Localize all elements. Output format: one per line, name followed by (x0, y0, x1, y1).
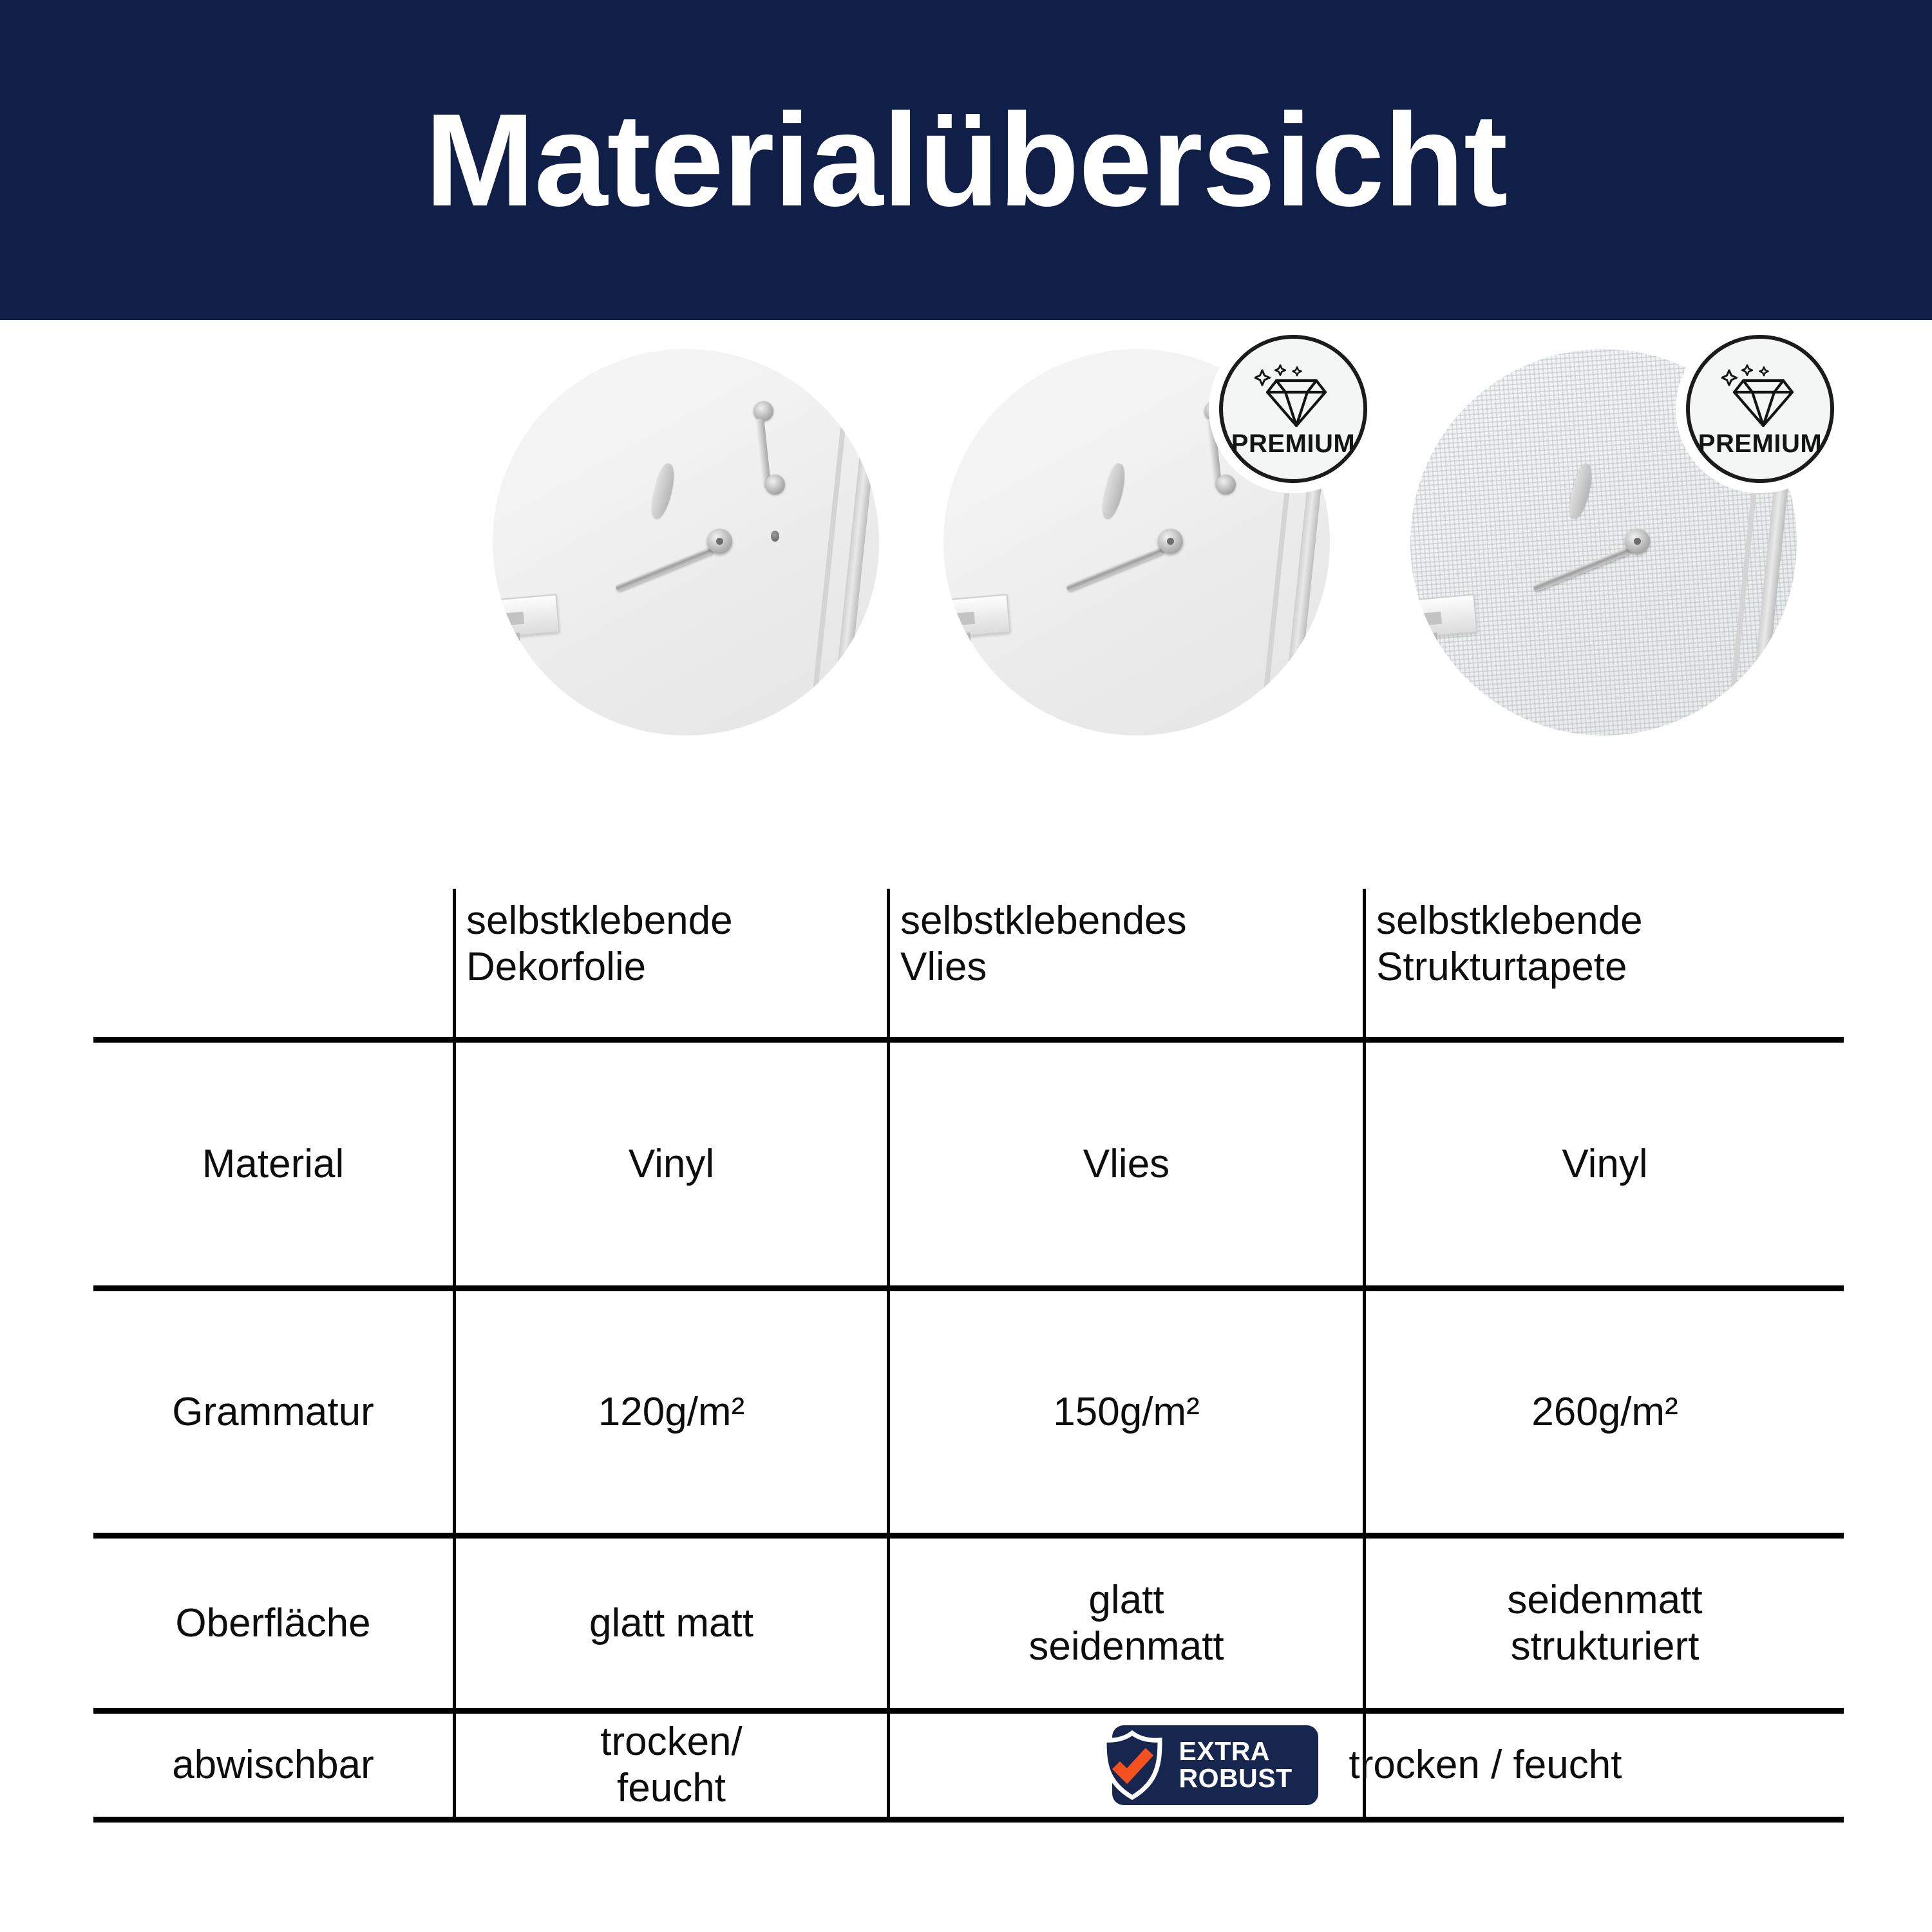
premium-badge-strukturtapete: PREMIUM (1686, 335, 1834, 483)
table-row-divider-3 (93, 1533, 1844, 1539)
cell-grammatur-vlies: 150g/m² (890, 1291, 1363, 1533)
diamond-icon (1721, 361, 1799, 430)
product-thumb-strukturtapete[interactable]: PREMIUM (1410, 349, 1797, 735)
cell-abwischbar-dekorfolie: trocken/ feucht (456, 1714, 887, 1817)
header-line-1: selbstklebendes (900, 898, 1187, 944)
row-label-oberflaeche: Oberfläche (93, 1539, 453, 1708)
header-line-1: selbstklebende (1376, 898, 1643, 944)
product-circle-image-1 (493, 349, 879, 735)
robust-row-content: EXTRA ROBUST trocken / feucht (900, 1725, 1833, 1805)
header-line-2: Vlies (900, 944, 1187, 990)
premium-badge-label: PREMIUM (1231, 431, 1355, 457)
extra-robust-label: EXTRA ROBUST (1179, 1738, 1293, 1792)
value-line-2: feucht (600, 1765, 743, 1812)
cell-material-dekorfolie: Vinyl (456, 1043, 887, 1285)
cell-abwischbar-merged: EXTRA ROBUST trocken / feucht (890, 1714, 1844, 1817)
table-row-divider-5 (93, 1817, 1844, 1823)
row-label-abwischbar: abwischbar (93, 1714, 453, 1817)
header-line-2: Dekorfolie (466, 944, 733, 990)
hatch-photo-1 (493, 349, 879, 735)
value-line-1: glatt (1028, 1577, 1224, 1624)
cell-oberflaeche-vlies: glatt seidenmatt (890, 1539, 1363, 1708)
cell-grammatur-strukturtapete: 260g/m² (1366, 1291, 1844, 1533)
cell-grammatur-dekorfolie: 120g/m² (456, 1291, 887, 1533)
shield-check-icon (1098, 1730, 1166, 1800)
latch-pivot-hub (1625, 529, 1650, 554)
panel-clip (1417, 594, 1478, 638)
row-label-grammatur: Grammatur (93, 1291, 453, 1533)
cell-abwischbar-value: trocken / feucht (1349, 1742, 1622, 1788)
screw-icon (771, 531, 779, 542)
page-title: Materialübersicht (425, 94, 1507, 226)
product-thumb-dekorfolie[interactable] (493, 349, 879, 735)
table-header-corner-cell (93, 889, 453, 1037)
table-header-vlies: selbstklebendes Vlies (890, 889, 1363, 1037)
table-header-dekorfolie: selbstklebende Dekorfolie (456, 889, 887, 1037)
table-header-strukturtapete: selbstklebende Strukturtapete (1366, 889, 1844, 1037)
panel-surface (493, 349, 879, 735)
table-row-divider-1 (93, 1037, 1844, 1043)
cell-material-strukturtapete: Vinyl (1366, 1043, 1844, 1285)
material-comparison-table: selbstklebende Dekorfolie selbstklebende… (93, 889, 1844, 1820)
value-line-1: seidenmatt (1507, 1577, 1702, 1624)
value-line-2: seidenmatt (1028, 1624, 1224, 1670)
table-row-divider-2 (93, 1285, 1844, 1291)
header-line-2: Strukturtapete (1376, 944, 1643, 990)
panel-clip (950, 594, 1011, 638)
cell-oberflaeche-strukturtapete: seidenmatt strukturiert (1366, 1539, 1844, 1708)
latch-pivot-hub (707, 529, 732, 554)
robust-line-2: ROBUST (1179, 1763, 1293, 1793)
robust-line-1: EXTRA (1179, 1736, 1270, 1766)
product-thumb-vlies[interactable]: PREMIUM (943, 349, 1330, 735)
premium-badge-vlies: PREMIUM (1219, 335, 1367, 483)
extra-robust-badge: EXTRA ROBUST (1112, 1725, 1318, 1805)
header-line-1: selbstklebende (466, 898, 733, 944)
page-header-banner: Materialübersicht (0, 0, 1932, 320)
value-line-2: strukturiert (1507, 1624, 1702, 1670)
cell-material-vlies: Vlies (890, 1043, 1363, 1285)
cell-oberflaeche-dekorfolie: glatt matt (456, 1539, 887, 1708)
premium-badge-label: PREMIUM (1698, 431, 1822, 457)
diamond-icon (1255, 361, 1332, 430)
row-label-material: Material (93, 1043, 453, 1285)
panel-clip (499, 594, 560, 638)
product-image-row: PREMIUM (0, 320, 1932, 835)
latch-pivot-hub (1158, 529, 1183, 554)
value-line-1: trocken/ (600, 1719, 743, 1765)
table-row-divider-4 (93, 1708, 1844, 1714)
